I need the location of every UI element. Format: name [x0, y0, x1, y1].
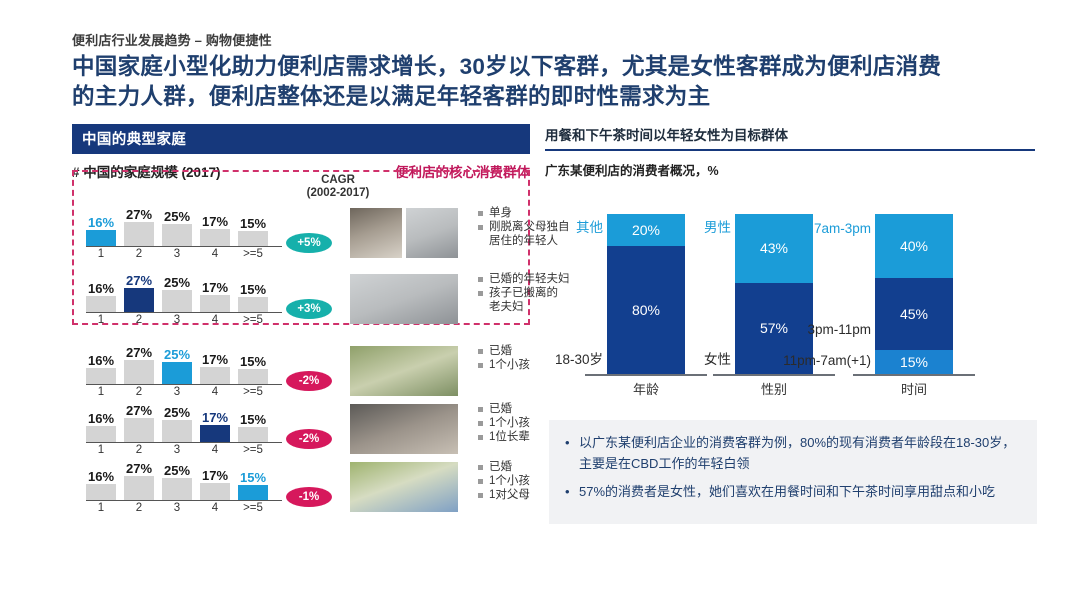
bar	[86, 368, 116, 384]
segment-category-label: 7am-3pm	[814, 221, 871, 236]
stack-segment: 15%	[875, 350, 953, 374]
household-size-row: 16%127%225%317%415%>=5+3%已婚的年轻夫妇孩子已搬离的老夫…	[72, 268, 542, 330]
bar-column: 25%	[162, 348, 192, 385]
bar	[124, 418, 154, 442]
bar	[238, 485, 268, 500]
axis-tick-label: >=5	[238, 502, 268, 514]
page-title: 中国家庭小型化助力便利店需求增长，30岁以下客群，尤其是女性客群成为便利店消费 …	[72, 52, 1032, 112]
bar	[124, 476, 154, 500]
stack-segment: 80%	[607, 246, 685, 374]
bar	[238, 427, 268, 442]
axis-tick-label: 2	[124, 386, 154, 398]
segment-value-label: 15%	[900, 354, 928, 370]
bar-column: 16%	[86, 354, 116, 384]
axis-tick-label: 2	[124, 248, 154, 260]
right-panel-title: 用餐和下午茶时间以年轻女性为目标群体	[545, 124, 1035, 151]
axis-tick-label: 2	[124, 444, 154, 456]
segment-value-label: 80%	[632, 302, 660, 318]
insights-list: 以广东某便利店企业的消费客群为例，80%的现有消费者年龄段在18-30岁，主要是…	[559, 432, 1023, 502]
axis-tick-label: 1	[86, 314, 116, 326]
bar	[200, 425, 230, 442]
bar-value-label: 25%	[164, 210, 190, 223]
household-size-row: 16%127%225%317%415%>=5-2%已婚1个小孩1位长辈	[72, 398, 542, 460]
household-size-row: 16%127%225%317%415%>=5-2%已婚1个小孩	[72, 340, 542, 402]
axis-tick-label: 2	[124, 502, 154, 514]
cagr-badge: -2%	[286, 429, 332, 449]
axis-tick-label: 1	[86, 502, 116, 514]
bar	[200, 229, 230, 246]
bar-value-label: 27%	[126, 346, 152, 359]
axis-tick-label: 3	[162, 502, 192, 514]
stack-segment: 45%	[875, 278, 953, 350]
right-panel: 用餐和下午茶时间以年轻女性为目标群体 广东某便利店的消费者概况，%	[545, 124, 1035, 179]
axis-tick-label: 3	[162, 386, 192, 398]
axis-tick-label: 1	[86, 444, 116, 456]
bar-column: 27%	[124, 404, 154, 442]
bar-column: 15%	[238, 283, 268, 312]
bar-value-label: 27%	[126, 208, 152, 221]
cagr-header: CAGR (2002-2017)	[290, 174, 386, 200]
bar	[238, 231, 268, 246]
bar-column: 27%	[124, 346, 154, 384]
axis-tick-label: 3	[162, 248, 192, 260]
axis-tick-label: >=5	[238, 444, 268, 456]
bar	[200, 367, 230, 384]
axis-tick-label: 1	[86, 386, 116, 398]
bar-value-label: 17%	[202, 281, 228, 294]
bar-value-label: 17%	[202, 353, 228, 366]
segment-category-label: 3pm-11pm	[807, 322, 871, 337]
bar-value-label: 25%	[164, 464, 190, 477]
bar-column: 16%	[86, 412, 116, 442]
bar-value-label: 27%	[126, 404, 152, 417]
bar	[200, 295, 230, 312]
bar	[86, 230, 116, 246]
stack-segment: 43%	[735, 214, 813, 283]
bar-column: 25%	[162, 406, 192, 443]
segment-value-label: 43%	[760, 240, 788, 256]
stack-segment: 40%	[875, 214, 953, 278]
photo-placeholder	[350, 462, 458, 512]
bar-value-label: 15%	[240, 217, 266, 230]
bar	[162, 290, 192, 313]
column-axis-line	[713, 374, 835, 376]
insight-bullet: 以广东某便利店企业的消费客群为例，80%的现有消费者年龄段在18-30岁，主要是…	[559, 432, 1023, 474]
family-photo-thumbnail	[350, 462, 458, 512]
bar	[238, 297, 268, 312]
bar	[124, 360, 154, 384]
bar	[124, 222, 154, 246]
bar-value-label: 25%	[164, 348, 190, 361]
cagr-badge: -2%	[286, 371, 332, 391]
bar	[162, 420, 192, 443]
family-photo-thumbnail	[406, 208, 458, 258]
household-size-row: 16%127%225%317%415%>=5-1%已婚1个小孩1对父母	[72, 456, 542, 518]
bar-column: 17%	[200, 469, 230, 500]
bar-column: 27%	[124, 274, 154, 312]
bar-column: 25%	[162, 276, 192, 313]
slide-kicker: 便利店行业发展趋势 – 购物便捷性	[72, 30, 272, 49]
axis-tick-label: 4	[200, 314, 230, 326]
cagr-badge: +3%	[286, 299, 332, 319]
column-category-label: 时间	[853, 379, 975, 398]
bar	[238, 369, 268, 384]
mini-bar-chart: 16%127%225%317%415%>=5	[86, 408, 282, 456]
axis-tick-label: 4	[200, 502, 230, 514]
bar-value-label: 17%	[202, 469, 228, 482]
stack-segment: 20%	[607, 214, 685, 246]
bar-column: 16%	[86, 470, 116, 500]
bar-value-label: 17%	[202, 215, 228, 228]
bar-column: 17%	[200, 411, 230, 442]
mini-bar-chart: 16%127%225%317%415%>=5	[86, 278, 282, 326]
column-axis-line	[585, 374, 707, 376]
right-panel-subtitle: 广东某便利店的消费者概况，%	[545, 160, 1035, 179]
bar-value-label: 15%	[240, 283, 266, 296]
bar-column: 27%	[124, 462, 154, 500]
stacked-column: 20%80%	[607, 214, 685, 374]
column-category-label: 年龄	[585, 379, 707, 398]
bar	[162, 362, 192, 385]
bar-column: 25%	[162, 210, 192, 247]
bar-column: 15%	[238, 355, 268, 384]
consumer-profile-stacked-chart: 其他18-30岁20%80%年龄男性女性43%57%性别7am-3pm3pm-1…	[545, 185, 1040, 400]
axis-tick-label: 4	[200, 248, 230, 260]
axis-tick-label: 3	[162, 444, 192, 456]
bar-value-label: 25%	[164, 276, 190, 289]
bar-value-label: 25%	[164, 406, 190, 419]
bar-value-label: 15%	[240, 471, 266, 484]
family-photo-thumbnail	[350, 346, 458, 396]
cagr-badge: +5%	[286, 233, 332, 253]
bar	[124, 288, 154, 312]
axis-tick-label: 2	[124, 314, 154, 326]
family-photo-thumbnail	[350, 274, 458, 324]
household-size-row: 16%127%225%317%415%>=5+5%单身刚脱离父母独自居住的年轻人	[72, 202, 542, 264]
family-photo-thumbnail	[350, 208, 402, 258]
stacked-column: 40%45%15%	[875, 214, 953, 374]
cagr-badge: -1%	[286, 487, 332, 507]
insight-bullet: 57%的消费者是女性，她们喜欢在用餐时间和下午茶时间享用甜点和小吃	[559, 481, 1023, 502]
bar	[86, 426, 116, 442]
column-category-label: 性别	[713, 379, 835, 398]
segment-category-label: 其他	[576, 216, 603, 236]
segment-category-label: 18-30岁	[555, 348, 603, 368]
cagr-header-line-1: CAGR	[290, 174, 386, 187]
bar-column: 25%	[162, 464, 192, 501]
segment-category-label: 女性	[704, 348, 731, 368]
mini-bar-chart: 16%127%225%317%415%>=5	[86, 466, 282, 514]
axis-tick-label: 4	[200, 444, 230, 456]
segment-value-label: 57%	[760, 320, 788, 336]
mini-bar-chart: 16%127%225%317%415%>=5	[86, 350, 282, 398]
bar-column: 16%	[86, 282, 116, 312]
bar-value-label: 15%	[240, 355, 266, 368]
axis-tick-label: >=5	[238, 248, 268, 260]
bar-column: 27%	[124, 208, 154, 246]
bar-value-label: 15%	[240, 413, 266, 426]
photo-placeholder	[350, 274, 458, 324]
bar-value-label: 16%	[88, 354, 114, 367]
bar-column: 17%	[200, 215, 230, 246]
segment-category-label: 11pm-7am(+1)	[783, 353, 871, 368]
bar-value-label: 17%	[202, 411, 228, 424]
stacked-column: 43%57%	[735, 214, 813, 374]
bar-value-label: 27%	[126, 274, 152, 287]
bar-column: 17%	[200, 353, 230, 384]
family-photo-thumbnail	[350, 404, 458, 454]
segment-value-label: 40%	[900, 238, 928, 254]
photo-placeholder	[350, 208, 402, 258]
axis-tick-label: 3	[162, 314, 192, 326]
photo-placeholder	[350, 404, 458, 454]
column-axis-line	[853, 374, 975, 376]
bar-value-label: 16%	[88, 216, 114, 229]
bar-value-label: 16%	[88, 412, 114, 425]
bar-value-label: 16%	[88, 282, 114, 295]
bar	[86, 296, 116, 312]
bar-column: 16%	[86, 216, 116, 246]
insights-note-box: 以广东某便利店企业的消费客群为例，80%的现有消费者年龄段在18-30岁，主要是…	[549, 420, 1037, 524]
legend-item: 已婚	[478, 402, 588, 416]
bar-column: 15%	[238, 217, 268, 246]
cagr-header-line-2: (2002-2017)	[290, 187, 386, 200]
bar-column: 15%	[238, 413, 268, 442]
bar-value-label: 16%	[88, 470, 114, 483]
left-panel-title: 中国的典型家庭	[72, 124, 530, 154]
bar	[162, 224, 192, 247]
axis-tick-label: 4	[200, 386, 230, 398]
axis-tick-label: 1	[86, 248, 116, 260]
bar	[86, 484, 116, 500]
bar	[162, 478, 192, 501]
headline-line-2: 的主力人群，便利店整体还是以满足年轻客群的即时性需求为主	[72, 82, 1032, 112]
axis-tick-label: >=5	[238, 386, 268, 398]
bar-column: 17%	[200, 281, 230, 312]
mini-bar-chart: 16%127%225%317%415%>=5	[86, 212, 282, 260]
segment-category-label: 男性	[704, 216, 731, 236]
photo-placeholder	[350, 346, 458, 396]
headline-line-1: 中国家庭小型化助力便利店需求增长，30岁以下客群，尤其是女性客群成为便利店消费	[72, 52, 1032, 82]
bar-column: 15%	[238, 471, 268, 500]
bar	[200, 483, 230, 500]
segment-value-label: 20%	[632, 222, 660, 238]
segment-value-label: 45%	[900, 306, 928, 322]
photo-placeholder	[406, 208, 458, 258]
bar-value-label: 27%	[126, 462, 152, 475]
axis-tick-label: >=5	[238, 314, 268, 326]
slide-canvas: 便利店行业发展趋势 – 购物便捷性 中国家庭小型化助力便利店需求增长，30岁以下…	[0, 0, 1080, 607]
